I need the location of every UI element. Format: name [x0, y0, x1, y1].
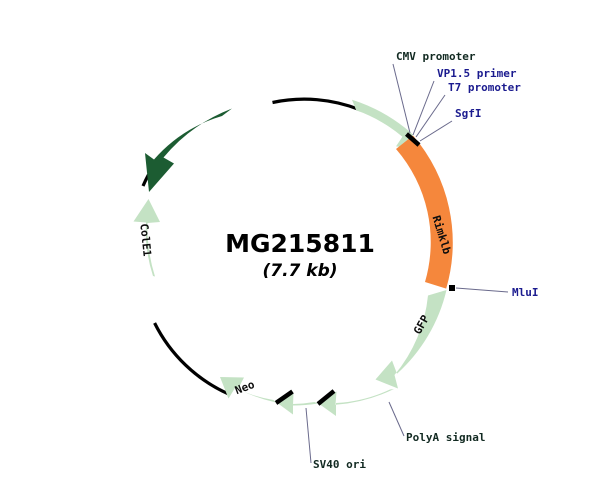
feature-colE1[interactable]: ColE1: [134, 199, 161, 277]
leader-polya-signal: [389, 402, 404, 436]
feature-arrow-rimklb[interactable]: [396, 136, 453, 289]
feature-neo[interactable]: Neo: [220, 377, 276, 403]
leader-sv40-ori: [306, 408, 311, 463]
feature-arrow-gfp[interactable]: [376, 290, 447, 389]
callout-label-polya-signal: PolyA signal: [406, 431, 485, 444]
backbone-segment-left: [155, 323, 229, 394]
feature-rimklb[interactable]: Rimklb: [396, 136, 454, 289]
feature-label-amp: Amp: [182, 143, 204, 167]
plasmid-map-svg: Rimklb GFP Neo ColE1: [0, 0, 600, 504]
feature-amp[interactable]: Amp: [145, 109, 232, 193]
callout-label-cmv-promoter: CMV promoter: [396, 50, 476, 63]
leader-mlui: [456, 288, 508, 292]
callout-label-sgfi: SgfI: [455, 107, 482, 120]
plasmid-map-canvas: Rimklb GFP Neo ColE1: [0, 0, 600, 504]
cutmark-mlui: [449, 285, 455, 291]
feature-label-colE1: ColE1: [137, 223, 153, 258]
plasmid-size-label: (7.7 kb): [262, 261, 337, 281]
backbone-segment-top: [273, 99, 361, 110]
callout-label-t7-promoter: T7 promoter: [448, 81, 521, 94]
feature-gfp[interactable]: GFP: [376, 290, 447, 389]
page-title: MG215811: [225, 229, 375, 258]
callout-label-mlui: MluI: [512, 286, 539, 299]
callout-label-sv40-ori: SV40 ori: [313, 458, 366, 471]
callout-label-vp15-primer: VP1.5 primer: [437, 67, 517, 80]
